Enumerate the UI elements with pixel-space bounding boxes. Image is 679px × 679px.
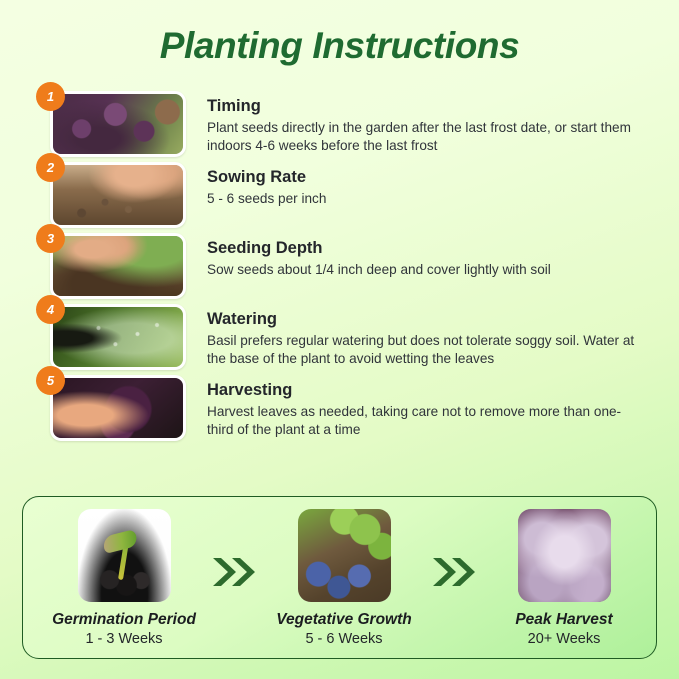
- step-text: Timing Plant seeds directly in the garde…: [190, 88, 637, 155]
- timeline-stage-duration: 5 - 6 Weeks: [259, 632, 429, 648]
- sprouting-seedling-photo: [78, 509, 171, 602]
- step-number-badge: 2: [36, 153, 65, 182]
- double-chevron-right-icon: [209, 555, 259, 589]
- hand-holding-basil-photo: [50, 375, 186, 441]
- step-description: 5 - 6 seeds per inch: [207, 190, 326, 208]
- timeline-stage: Peak Harvest 20+ Weeks: [479, 509, 649, 648]
- step-title: Watering: [207, 310, 637, 329]
- step-number-badge: 5: [36, 366, 65, 395]
- step-item: 2 Sowing Rate 5 - 6 seeds per inch: [50, 159, 679, 230]
- purple-basil-plants-photo: [50, 91, 186, 157]
- step-title: Seeding Depth: [207, 239, 551, 258]
- step-text: Seeding Depth Sow seeds about 1/4 inch d…: [190, 230, 551, 279]
- timeline-stage: Germination Period 1 - 3 Weeks: [39, 509, 209, 648]
- step-number-badge: 1: [36, 82, 65, 111]
- hands-in-soil-photo: [50, 233, 186, 299]
- step-title: Sowing Rate: [207, 168, 326, 187]
- step-item: 5 Harvesting Harvest leaves as needed, t…: [50, 372, 679, 443]
- timeline-stage-duration: 1 - 3 Weeks: [39, 632, 209, 648]
- step-title: Harvesting: [207, 381, 637, 400]
- step-text: Sowing Rate 5 - 6 seeds per inch: [190, 159, 326, 208]
- step-item: 3 Seeding Depth Sow seeds about 1/4 inch…: [50, 230, 679, 301]
- timeline-stage-label: Vegetative Growth: [259, 611, 429, 628]
- sprinkler-watering-photo: [50, 304, 186, 370]
- step-description: Basil prefers regular watering but does …: [207, 332, 637, 368]
- timeline-stage-label: Germination Period: [39, 611, 209, 628]
- growth-timeline-card: Germination Period 1 - 3 Weeks Vegetativ…: [22, 496, 657, 659]
- step-item: 4 Watering Basil prefers regular waterin…: [50, 301, 679, 372]
- step-number-badge: 4: [36, 295, 65, 324]
- step-item: 1 Timing Plant seeds directly in the gar…: [50, 88, 679, 159]
- double-chevron-right-icon: [429, 555, 479, 589]
- timeline-stage-duration: 20+ Weeks: [479, 632, 649, 648]
- step-number-badge: 3: [36, 224, 65, 253]
- basil-rows-in-soil-photo: [298, 509, 391, 602]
- step-description: Plant seeds directly in the garden after…: [207, 119, 637, 155]
- step-title: Timing: [207, 97, 637, 116]
- mature-purple-basil-photo: [518, 509, 611, 602]
- step-description: Harvest leaves as needed, taking care no…: [207, 403, 637, 439]
- hand-sowing-seeds-photo: [50, 162, 186, 228]
- timeline-stage-label: Peak Harvest: [479, 611, 649, 628]
- step-description: Sow seeds about 1/4 inch deep and cover …: [207, 261, 551, 279]
- page-title: Planting Instructions: [0, 0, 679, 67]
- timeline-stage: Vegetative Growth 5 - 6 Weeks: [259, 509, 429, 648]
- step-text: Harvesting Harvest leaves as needed, tak…: [190, 372, 637, 439]
- planting-steps-list: 1 Timing Plant seeds directly in the gar…: [0, 88, 679, 443]
- step-text: Watering Basil prefers regular watering …: [190, 301, 637, 368]
